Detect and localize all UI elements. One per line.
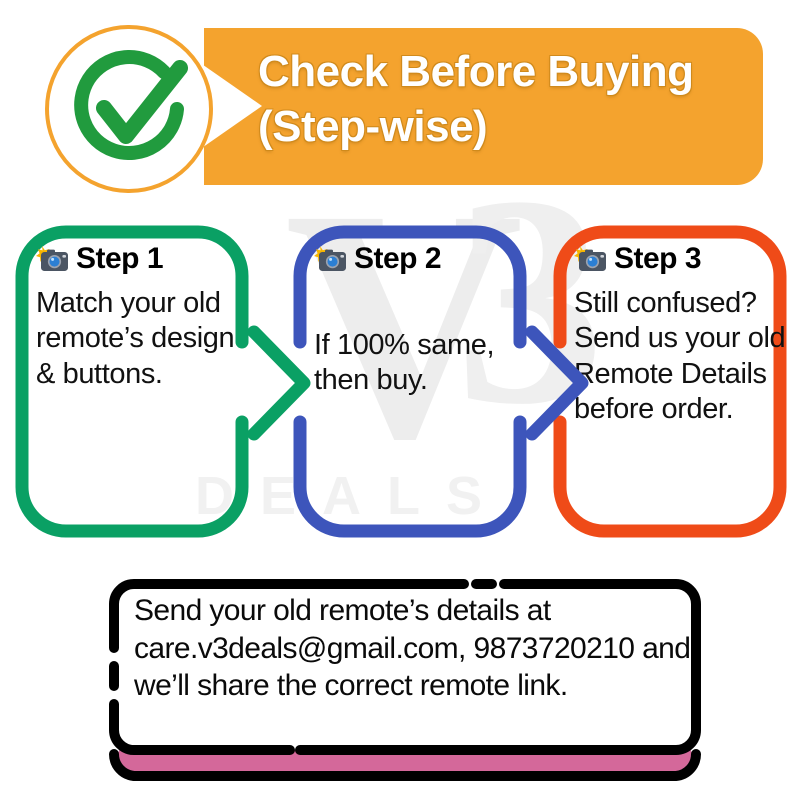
camera-with-flash-icon [314, 245, 348, 273]
callout-message: Send your old remote’s details at care.v… [134, 592, 694, 705]
step-3-header: Step 3 [574, 244, 788, 274]
banner-title-line-2: (Step-wise) [258, 99, 758, 154]
step-1-chevron-icon [246, 324, 318, 442]
step-card-1[interactable]: Step 1 Match your old remote’s design & … [14, 224, 250, 539]
step-3-text: Still confused? Send us your old Remote … [574, 286, 788, 428]
infographic-canvas: V 3 DEALS Check Before Buying (Step-wise… [0, 0, 800, 800]
banner-title-line-1: Check Before Buying [258, 44, 758, 99]
step-2-body: Step 2 If 100% same, then buy. [314, 244, 520, 399]
step-1-header: Step 1 [36, 244, 242, 274]
contact-callout[interactable]: Send your old remote’s details at care.v… [104, 574, 706, 786]
step-2-title: Step 2 [354, 244, 441, 274]
camera-with-flash-icon [574, 245, 608, 273]
camera-with-flash-icon [36, 245, 70, 273]
step-2-text: If 100% same, then buy. [314, 328, 520, 399]
green-check-circle-icon [45, 25, 213, 193]
banner-title-block: Check Before Buying (Step-wise) [258, 44, 758, 155]
step-1-title: Step 1 [76, 244, 163, 274]
header-banner: Check Before Buying (Step-wise) [0, 0, 800, 205]
step-card-2[interactable]: Step 2 If 100% same, then buy. [292, 224, 528, 539]
step-3-title: Step 3 [614, 244, 701, 274]
step-1-text: Match your old remote’s design & buttons… [36, 286, 242, 392]
step-2-header: Step 2 [314, 244, 520, 274]
step-3-body: Step 3 Still confused? Send us your old … [574, 244, 788, 428]
step-1-body: Step 1 Match your old remote’s design & … [36, 244, 242, 392]
steps-row: Step 1 Match your old remote’s design & … [0, 224, 800, 544]
step-2-chevron-icon [524, 324, 596, 442]
